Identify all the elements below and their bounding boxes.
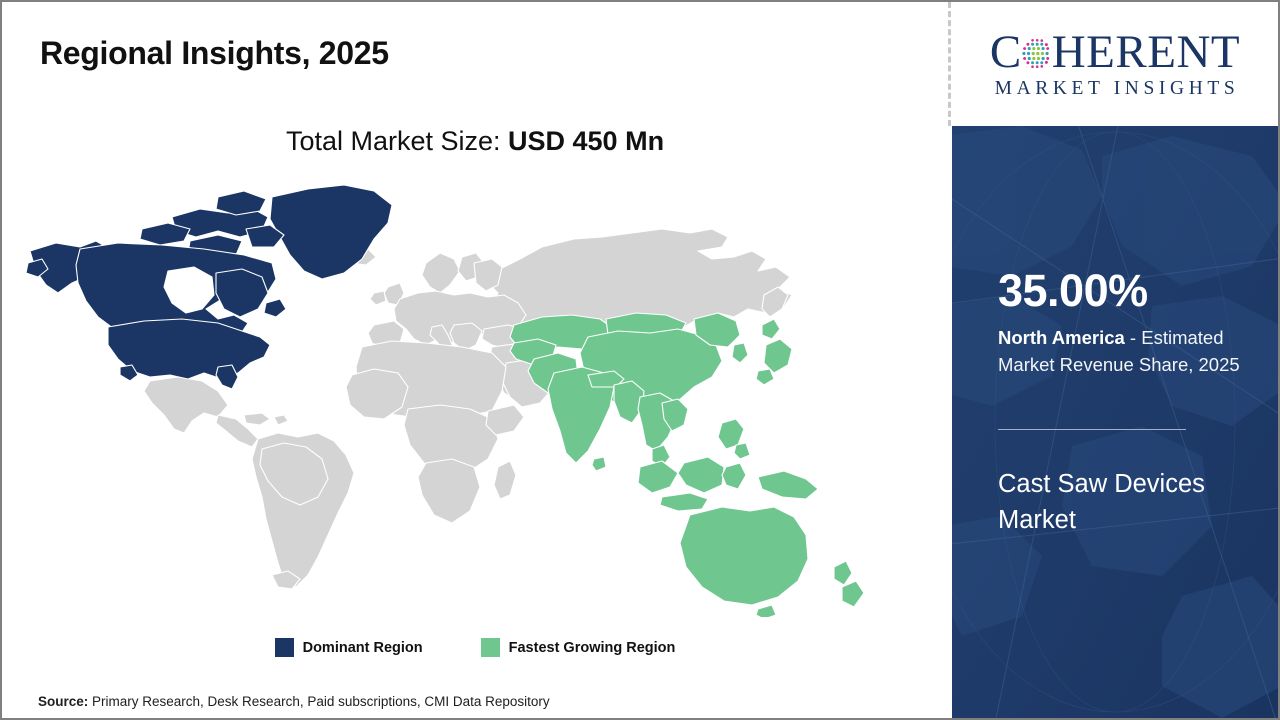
- logo-wordmark: C: [967, 29, 1263, 76]
- map-legend: Dominant Region Fastest Growing Region: [2, 638, 948, 657]
- side-panel: 35.00% North America - Estimated Market …: [952, 126, 1278, 718]
- logo-letter-c: C: [990, 29, 1022, 76]
- share-region-name: North America: [998, 327, 1125, 348]
- logo-tagline: MARKET INSIGHTS: [967, 78, 1263, 100]
- legend-label-dominant: Dominant Region: [303, 640, 423, 656]
- source-note: Source: Primary Research, Desk Research,…: [38, 694, 550, 709]
- regional-insights-infographic: Regional Insights, 2025 Total Market Siz…: [0, 0, 1280, 720]
- total-market-size-label: Total Market Size:: [286, 126, 508, 156]
- total-market-size-value: USD 450 Mn: [508, 126, 664, 156]
- map-region-north-america: [26, 185, 392, 389]
- logo-block: C: [967, 29, 1263, 100]
- side-panel-content: 35.00% North America - Estimated Market …: [998, 126, 1260, 718]
- logo-letters-herent: HERENT: [1052, 29, 1240, 76]
- source-label: Source:: [38, 694, 88, 709]
- page-title: Regional Insights, 2025: [40, 35, 389, 72]
- legend-item-dominant: Dominant Region: [275, 638, 423, 657]
- source-text: Primary Research, Desk Research, Paid su…: [88, 694, 549, 709]
- legend-item-fastest-growing: Fastest Growing Region: [481, 638, 676, 657]
- total-market-size: Total Market Size: USD 450 Mn: [2, 126, 948, 157]
- market-name: Cast Saw Devices Market: [998, 466, 1254, 538]
- world-map-container: [22, 167, 882, 617]
- panel-divider: [948, 2, 951, 126]
- legend-swatch-dominant: [275, 638, 294, 657]
- legend-label-fastest-growing: Fastest Growing Region: [509, 640, 676, 656]
- share-percent-value: 35.00%: [998, 268, 1148, 313]
- dotted-globe-icon: [1020, 37, 1053, 70]
- world-map-svg: [22, 167, 882, 617]
- brand-logo: C: [952, 2, 1278, 126]
- share-divider: [998, 429, 1186, 430]
- share-description: North America - Estimated Market Revenue…: [998, 324, 1256, 378]
- legend-swatch-fastest-growing: [481, 638, 500, 657]
- left-panel: Regional Insights, 2025 Total Market Siz…: [2, 2, 948, 718]
- map-region-asia-pacific: [510, 313, 864, 617]
